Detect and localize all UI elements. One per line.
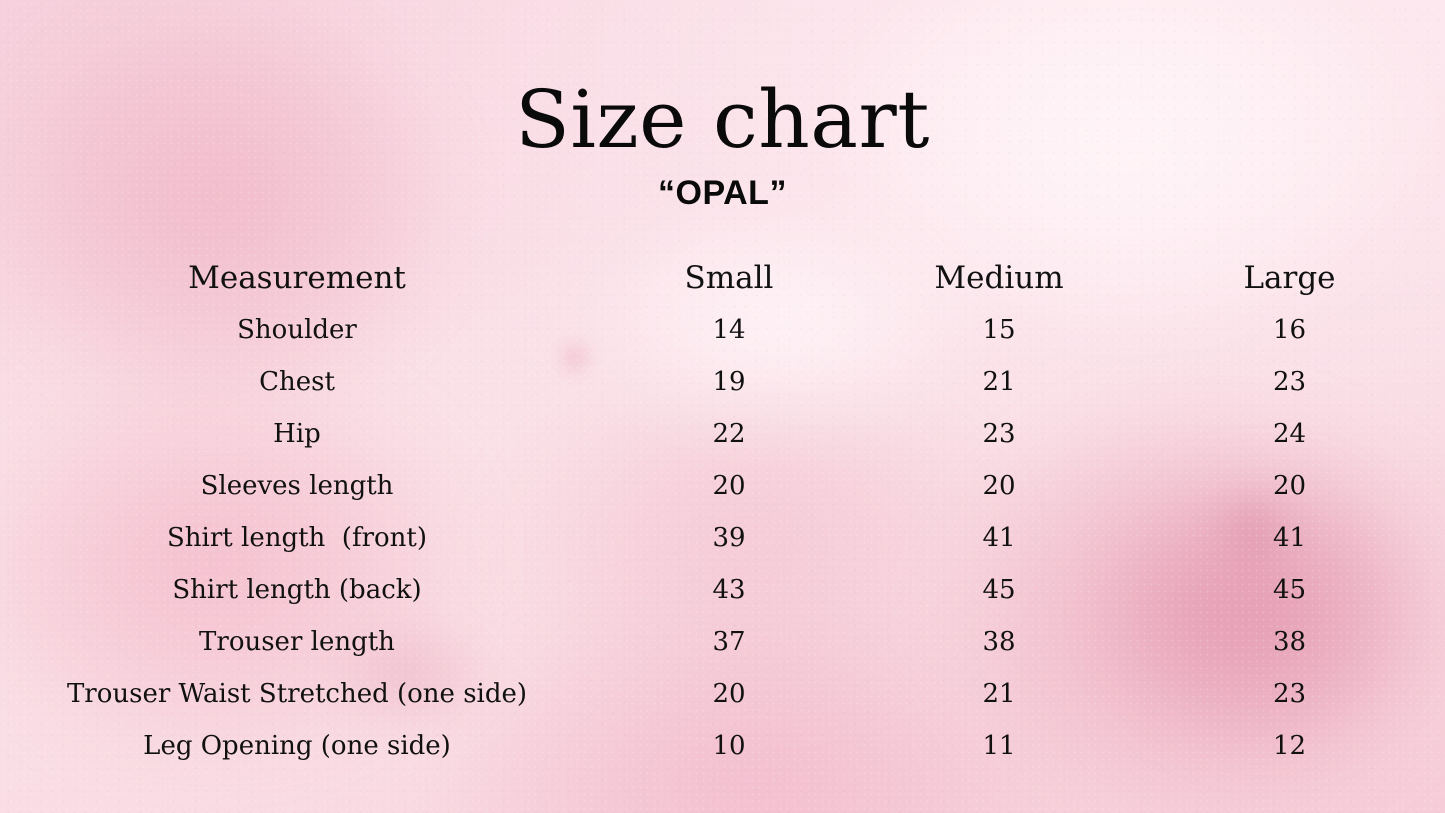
cell-medium: 20 bbox=[864, 460, 1134, 512]
table-row: Sleeves length202020 bbox=[0, 460, 1445, 512]
table-row: Trouser length373838 bbox=[0, 616, 1445, 668]
size-chart-table: Measurement Small Medium Large Shoulder1… bbox=[0, 252, 1445, 772]
cell-small: 10 bbox=[594, 720, 864, 772]
cell-small: 43 bbox=[594, 564, 864, 616]
column-header-large: Large bbox=[1134, 252, 1445, 304]
table-body: Shoulder141516Chest192123Hip222324Sleeve… bbox=[0, 304, 1445, 772]
cell-measurement: Shirt length (front) bbox=[0, 512, 594, 564]
table-row: Leg Opening (one side)101112 bbox=[0, 720, 1445, 772]
cell-measurement: Sleeves length bbox=[0, 460, 594, 512]
cell-large: 12 bbox=[1134, 720, 1445, 772]
cell-measurement: Hip bbox=[0, 408, 594, 460]
cell-medium: 45 bbox=[864, 564, 1134, 616]
table-header-row: Measurement Small Medium Large bbox=[0, 252, 1445, 304]
content-layer: Size chart “OPAL” Measurement Small Medi… bbox=[0, 0, 1445, 813]
cell-large: 20 bbox=[1134, 460, 1445, 512]
cell-medium: 11 bbox=[864, 720, 1134, 772]
cell-medium: 41 bbox=[864, 512, 1134, 564]
cell-measurement: Shirt length (back) bbox=[0, 564, 594, 616]
cell-small: 39 bbox=[594, 512, 864, 564]
cell-small: 22 bbox=[594, 408, 864, 460]
cell-small: 20 bbox=[594, 460, 864, 512]
cell-medium: 21 bbox=[864, 668, 1134, 720]
table-header: Measurement Small Medium Large bbox=[0, 252, 1445, 304]
cell-medium: 38 bbox=[864, 616, 1134, 668]
cell-large: 23 bbox=[1134, 668, 1445, 720]
cell-medium: 15 bbox=[864, 304, 1134, 356]
cell-large: 23 bbox=[1134, 356, 1445, 408]
column-header-medium: Medium bbox=[864, 252, 1134, 304]
cell-large: 41 bbox=[1134, 512, 1445, 564]
cell-measurement: Chest bbox=[0, 356, 594, 408]
table-row: Chest192123 bbox=[0, 356, 1445, 408]
cell-measurement: Leg Opening (one side) bbox=[0, 720, 594, 772]
cell-small: 14 bbox=[594, 304, 864, 356]
table-row: Shirt length (back)434545 bbox=[0, 564, 1445, 616]
cell-small: 37 bbox=[594, 616, 864, 668]
product-name-subtitle: “OPAL” bbox=[0, 176, 1445, 210]
table-row: Hip222324 bbox=[0, 408, 1445, 460]
cell-medium: 21 bbox=[864, 356, 1134, 408]
table-row: Shirt length (front)394141 bbox=[0, 512, 1445, 564]
cell-large: 38 bbox=[1134, 616, 1445, 668]
cell-measurement: Trouser Waist Stretched (one side) bbox=[0, 668, 594, 720]
cell-small: 19 bbox=[594, 356, 864, 408]
size-chart-canvas: Size chart “OPAL” Measurement Small Medi… bbox=[0, 0, 1445, 813]
cell-measurement: Shoulder bbox=[0, 304, 594, 356]
table-row: Trouser Waist Stretched (one side)202123 bbox=[0, 668, 1445, 720]
column-header-measurement: Measurement bbox=[0, 252, 594, 304]
column-header-small: Small bbox=[594, 252, 864, 304]
cell-large: 45 bbox=[1134, 564, 1445, 616]
cell-small: 20 bbox=[594, 668, 864, 720]
cell-measurement: Trouser length bbox=[0, 616, 594, 668]
cell-large: 24 bbox=[1134, 408, 1445, 460]
page-title: Size chart bbox=[0, 80, 1445, 160]
table-row: Shoulder141516 bbox=[0, 304, 1445, 356]
cell-large: 16 bbox=[1134, 304, 1445, 356]
cell-medium: 23 bbox=[864, 408, 1134, 460]
